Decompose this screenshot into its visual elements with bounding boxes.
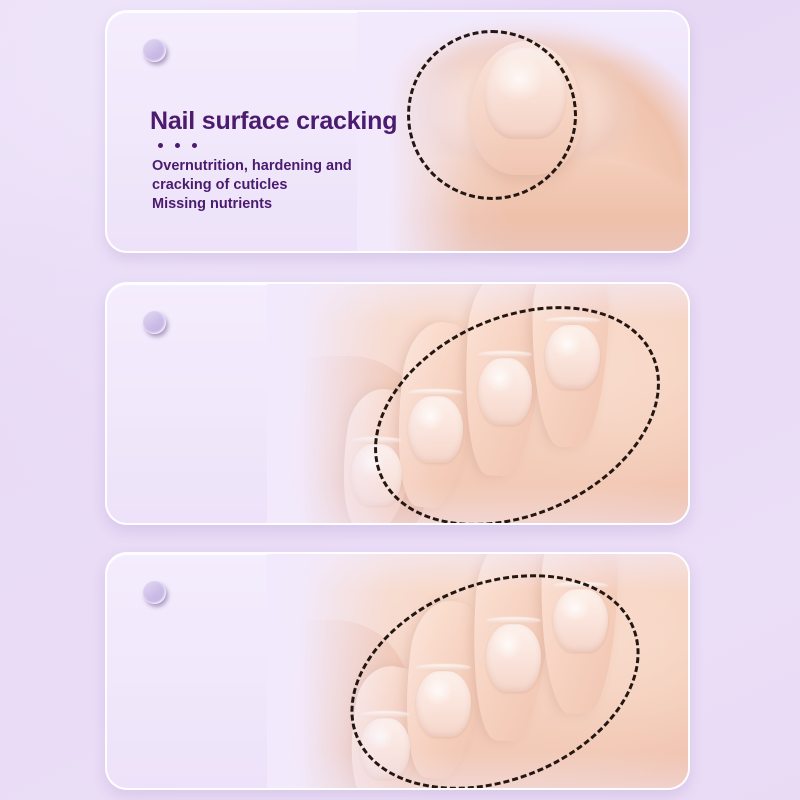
- fingernail: [360, 718, 411, 779]
- dry-cuticle: [360, 711, 411, 718]
- hangnail-cuticle: [351, 437, 402, 444]
- thumb-nail: [484, 48, 567, 139]
- fingernail: [545, 325, 600, 390]
- fingernail: [408, 396, 463, 463]
- card-title: Nail surface cracking: [150, 107, 397, 136]
- card-description: Overnutrition, hardening and cracking of…: [152, 157, 397, 214]
- card-text-block: Nail surface cracking Overnutrition, har…: [150, 107, 397, 214]
- fingernail: [486, 624, 541, 692]
- info-card-dry-cocoon: dry cocoon Skin lacks moisture Lack of v…: [105, 552, 690, 790]
- card-photo-hangnails: [267, 284, 688, 523]
- description-line: Overnutrition, hardening and: [152, 157, 397, 176]
- poster-root: Nail surface cracking Overnutrition, har…: [0, 0, 800, 800]
- card-photo-dry-cuticles: [267, 554, 688, 788]
- fingernail: [553, 589, 608, 652]
- punch-hole-dot-icon: [143, 581, 166, 604]
- description-line: cracking of cuticles: [152, 176, 397, 195]
- fingernail: [351, 444, 402, 506]
- description-line: Missing nutrients: [152, 195, 397, 214]
- fingernail: [478, 358, 533, 425]
- photo-image: [267, 284, 688, 523]
- info-card-nail-surface-cracking: Nail surface cracking Overnutrition, har…: [105, 10, 690, 253]
- photo-image: [267, 554, 688, 788]
- punch-hole-dot-icon: [143, 311, 166, 334]
- dry-cuticle: [416, 664, 471, 671]
- card-photo-thumb: [357, 12, 688, 251]
- fingernail: [416, 671, 471, 737]
- photo-image: [357, 12, 688, 251]
- dot-separator-icon: [158, 143, 397, 148]
- hangnail-cuticle: [478, 351, 533, 358]
- punch-hole-dot-icon: [143, 39, 166, 62]
- info-card-frequent-hangnails: Frequent hangnails Skin is too dry Bitin…: [105, 282, 690, 525]
